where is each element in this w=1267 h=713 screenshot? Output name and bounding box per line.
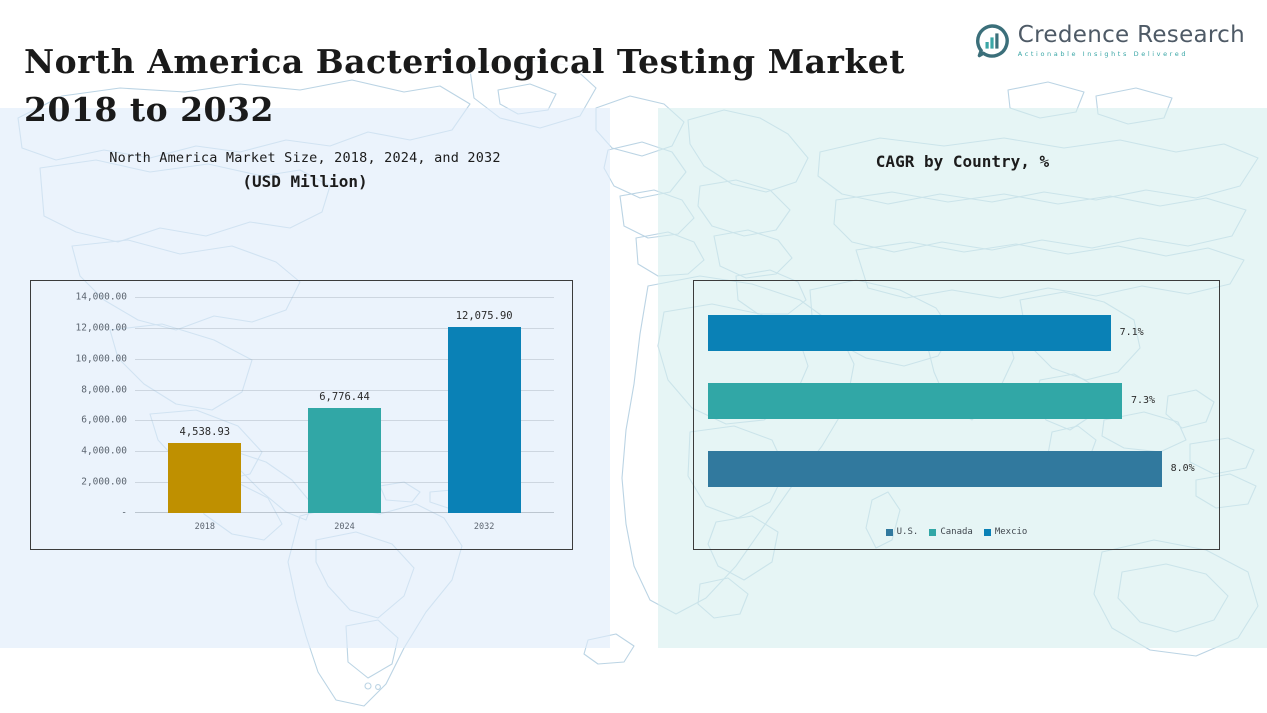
bar-fill bbox=[708, 451, 1162, 486]
right-chart-title: CAGR by Country, % bbox=[658, 152, 1267, 171]
cagr-bar: 8.0% bbox=[708, 451, 1207, 486]
gridline bbox=[135, 297, 554, 298]
legend-swatch bbox=[984, 529, 991, 536]
legend-label: Canada bbox=[940, 527, 973, 537]
legend-label: Mexcio bbox=[995, 527, 1028, 537]
bar-fill bbox=[168, 443, 241, 513]
bar-chart-bubble-icon bbox=[975, 24, 1009, 58]
y-axis-tick-label: - bbox=[121, 508, 127, 519]
market-size-chart: 14,000.0012,000.0010,000.008,000.006,000… bbox=[30, 280, 573, 550]
page-title-line-2: 2018 to 2032 bbox=[24, 86, 984, 134]
page-title-line-1: North America Bacteriological Testing Ma… bbox=[24, 38, 984, 86]
bar-fill bbox=[308, 408, 381, 513]
bar-value-label: 8.0% bbox=[1171, 463, 1195, 474]
y-axis-tick-label: 10,000.00 bbox=[76, 353, 127, 364]
cagr-plot-area: 7.1%7.3%8.0% bbox=[708, 299, 1207, 503]
legend-item[interactable]: U.S. bbox=[886, 527, 919, 537]
legend-label: U.S. bbox=[897, 527, 919, 537]
bar-fill bbox=[708, 315, 1111, 350]
y-axis-tick-label: 4,000.00 bbox=[81, 446, 127, 457]
bar-value-label: 12,075.90 bbox=[456, 310, 513, 322]
cagr-legend: U.S.CanadaMexcio bbox=[694, 527, 1219, 537]
logo-name: Credence Research bbox=[1018, 24, 1245, 47]
x-axis-tick-label: 2032 bbox=[474, 522, 494, 532]
bar-value-label: 4,538.93 bbox=[180, 426, 231, 438]
logo-tagline: Actionable Insights Delivered bbox=[1018, 51, 1245, 58]
bar-fill bbox=[708, 383, 1122, 418]
page-title: North America Bacteriological Testing Ma… bbox=[24, 38, 984, 134]
cagr-bar: 7.3% bbox=[708, 383, 1207, 418]
y-axis-tick-label: 6,000.00 bbox=[81, 415, 127, 426]
left-chart-title-main: North America Market Size, 2018, 2024, a… bbox=[10, 150, 600, 166]
bar-value-label: 6,776.44 bbox=[319, 391, 370, 403]
bar-value-label: 7.3% bbox=[1131, 395, 1155, 406]
y-axis-tick-label: 12,000.00 bbox=[76, 322, 127, 333]
left-chart-title: North America Market Size, 2018, 2024, a… bbox=[10, 150, 600, 191]
y-axis-tick-label: 2,000.00 bbox=[81, 477, 127, 488]
legend-swatch bbox=[929, 529, 936, 536]
legend-item[interactable]: Canada bbox=[929, 527, 973, 537]
brand-logo[interactable]: Credence Research Actionable Insights De… bbox=[975, 24, 1245, 58]
legend-swatch bbox=[886, 529, 893, 536]
bar-value-label: 7.1% bbox=[1120, 327, 1144, 338]
y-axis-tick-label: 14,000.00 bbox=[76, 292, 127, 303]
cagr-chart: 7.1%7.3%8.0% U.S.CanadaMexcio bbox=[693, 280, 1220, 550]
market-size-plot-area: 14,000.0012,000.0010,000.008,000.006,000… bbox=[135, 297, 554, 513]
cagr-bar: 7.1% bbox=[708, 315, 1207, 350]
bar-fill bbox=[448, 327, 521, 513]
market-size-bar: 6,776.442024 bbox=[308, 408, 381, 513]
left-chart-title-unit: (USD Million) bbox=[10, 172, 600, 191]
x-axis-tick-label: 2018 bbox=[195, 522, 215, 532]
legend-item[interactable]: Mexcio bbox=[984, 527, 1028, 537]
market-size-bar: 12,075.902032 bbox=[448, 327, 521, 513]
market-size-bar: 4,538.932018 bbox=[168, 443, 241, 513]
logo-text: Credence Research Actionable Insights De… bbox=[1018, 24, 1245, 58]
y-axis-tick-label: 8,000.00 bbox=[81, 384, 127, 395]
x-axis-tick-label: 2024 bbox=[334, 522, 354, 532]
